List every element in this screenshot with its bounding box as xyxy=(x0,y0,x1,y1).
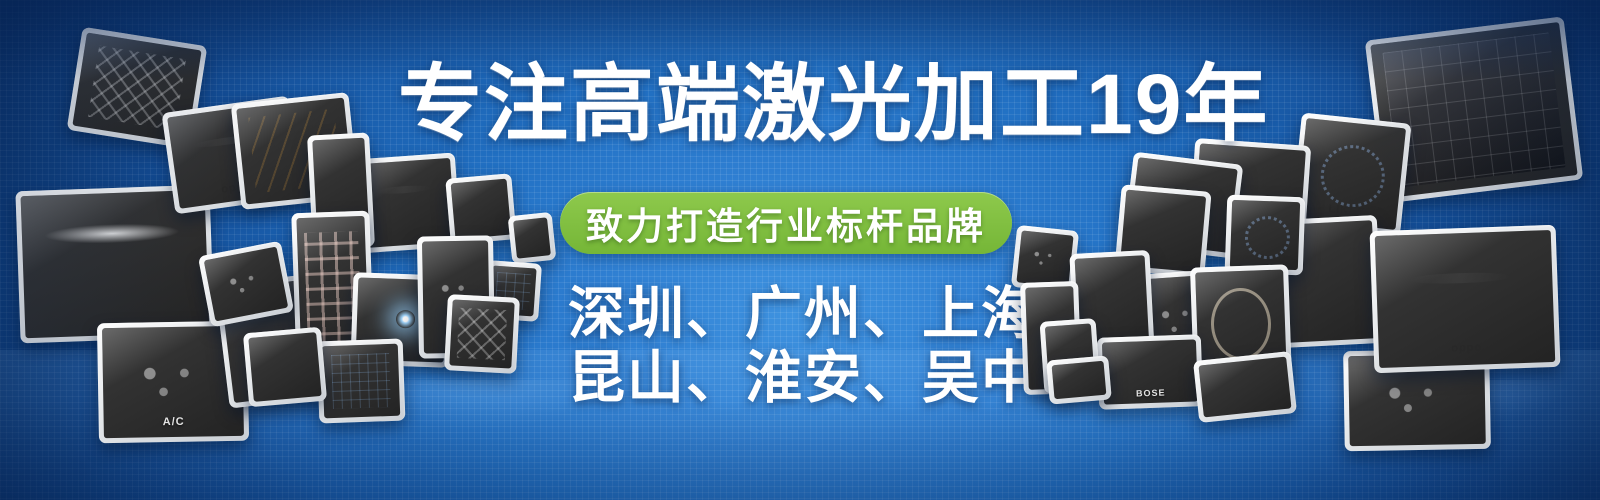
product-card-blueprint xyxy=(317,339,406,424)
banner-slogan-text: 致力打造行业标杆品牌 xyxy=(586,196,986,250)
card-image-oppo-right: oppo xyxy=(1375,230,1555,368)
card-image-dark-logo xyxy=(204,247,288,322)
product-card-cream-tile xyxy=(243,327,327,408)
card-image-usb-drive xyxy=(1199,357,1292,418)
card-label: A/C xyxy=(104,415,244,429)
city-line-1: 深圳、广州、上海 xyxy=(568,282,1040,346)
product-card-red-burst xyxy=(444,294,520,374)
card-image-cream-round xyxy=(1230,200,1300,270)
banner-city-list: 深圳、广州、上海 昆山、淮安、吴中 xyxy=(568,282,1040,410)
product-card-bose-speaker: BOSE xyxy=(1097,334,1203,410)
city-line-2: 昆山、淮安、吴中 xyxy=(568,346,1040,410)
banner-slogan-badge: 致力打造行业标杆品牌 xyxy=(560,192,1012,254)
product-card-small-usb-left xyxy=(1046,355,1112,404)
card-image-small-usb-left xyxy=(1052,361,1107,399)
card-label: oppo xyxy=(1379,339,1555,357)
card-image-cream-tile xyxy=(248,332,321,402)
banner-headline: 专注高端激光加工19年 xyxy=(398,62,1269,146)
card-label: BOSE xyxy=(1104,386,1198,399)
product-card-cream-round xyxy=(1225,195,1306,276)
card-image-bose-speaker: BOSE xyxy=(1102,339,1198,404)
product-card-usb-drive xyxy=(1193,351,1297,423)
card-image-red-burst xyxy=(449,299,514,368)
product-card-oppo-right: oppo xyxy=(1370,225,1561,373)
card-image-blueprint xyxy=(322,344,400,419)
promotional-banner: A/C oppo STACCATO xyxy=(0,0,1600,500)
